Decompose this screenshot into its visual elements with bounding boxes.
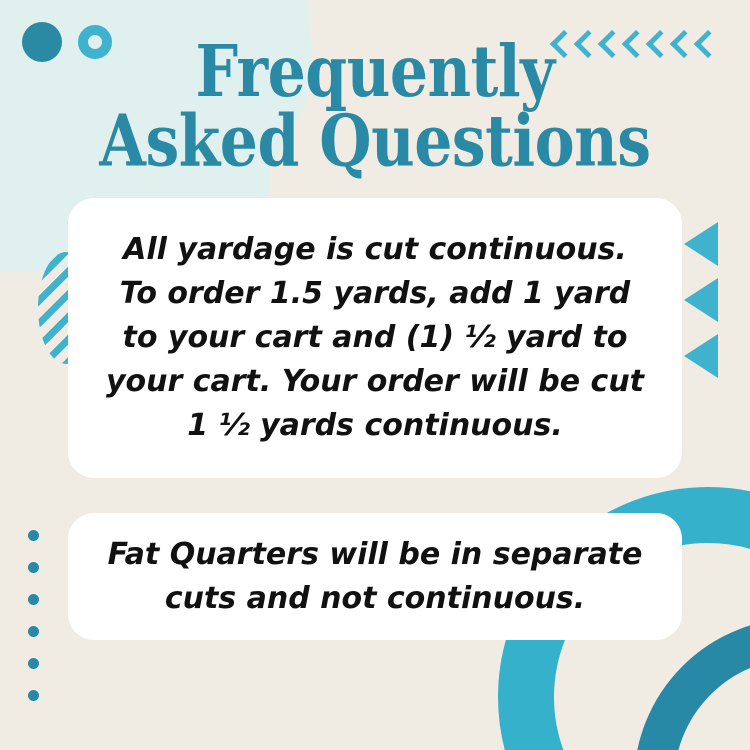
faq-poster: Frequently Asked Questions All yardage i… (0, 0, 750, 750)
faq-line: cuts and not continuous. (84, 577, 666, 621)
faq-card-fat-quarters: Fat Quarters will be in separate cuts an… (68, 513, 682, 640)
filled-circle-icon (28, 626, 39, 637)
faq-line: Fat Quarters will be in separate (84, 533, 666, 577)
faq-line: To order 1.5 yards, add 1 yard (84, 272, 666, 316)
triangle-left-icon (684, 278, 718, 322)
filled-circle-icon (28, 690, 39, 701)
faq-line: to your cart and (1) ½ yard to (84, 316, 666, 360)
filled-circle-icon (28, 594, 39, 605)
filled-circle-icon (28, 562, 39, 573)
faq-line: your cart. Your order will be cut (84, 360, 666, 404)
faq-line: 1 ½ yards continuous. (84, 404, 666, 448)
filled-circle-icon (28, 530, 39, 541)
triangle-left-icon (684, 334, 718, 378)
faq-card-yardage: All yardage is cut continuous. To order … (68, 198, 682, 478)
triangle-left-icon (684, 222, 718, 266)
faq-line: All yardage is cut continuous. (84, 228, 666, 272)
page-title-line-2: Asked Questions (0, 107, 750, 176)
page-title: Frequently Asked Questions (0, 38, 750, 177)
filled-circle-icon (28, 658, 39, 669)
dot-column (28, 530, 39, 701)
